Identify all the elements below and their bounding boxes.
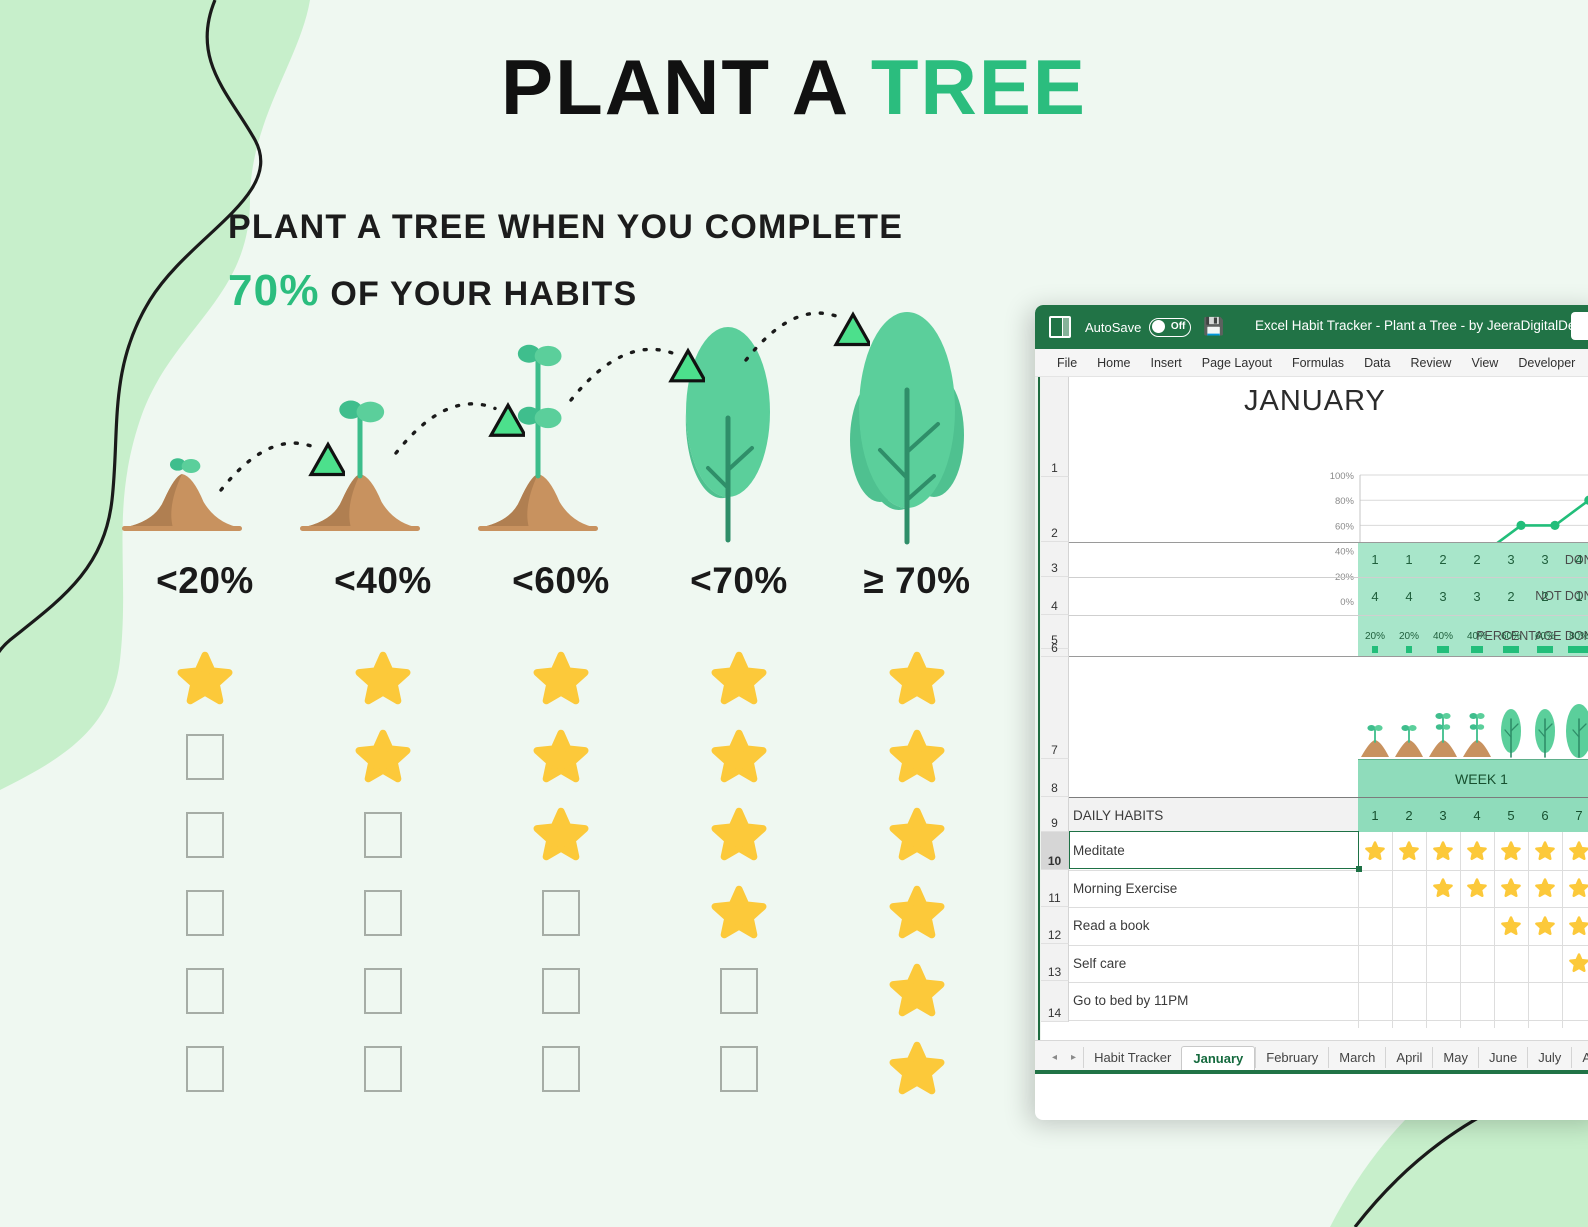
empty-box-icon: [720, 968, 758, 1014]
empty-box-icon: [186, 812, 224, 858]
habit-star-cell[interactable]: [1562, 907, 1588, 945]
star-icon: [1535, 916, 1555, 936]
star-filled: [832, 718, 1002, 796]
empty-box-icon: [186, 968, 224, 1014]
ribbon-tab-formulas[interactable]: Formulas: [1282, 356, 1354, 370]
autosave-toggle-knob: [1152, 320, 1165, 333]
empty-box-icon: [186, 890, 224, 936]
ribbon-tab-view[interactable]: View: [1461, 356, 1508, 370]
day-header-5[interactable]: 5: [1494, 798, 1528, 832]
data-bar: [1437, 646, 1448, 653]
habit-name[interactable]: Go to bed by 11PM: [1069, 982, 1358, 1020]
star-filled: [654, 640, 824, 718]
star-filled: [832, 874, 1002, 952]
stat-cell[interactable]: 3: [1494, 542, 1528, 577]
star-icon: [1433, 878, 1453, 898]
checkbox-empty: [476, 952, 646, 1030]
sheet-content: JANUARY 0%20%40%60%80%100% DONE1122334NO…: [1069, 377, 1588, 1074]
grid-vline: [1494, 832, 1495, 1028]
sheet-tab-augus[interactable]: Augus: [1571, 1047, 1588, 1068]
growth-stage-label-3: <60%: [476, 560, 646, 602]
row-header-9[interactable]: 9: [1041, 797, 1069, 832]
star-icon: [177, 651, 233, 707]
habit-star-cell[interactable]: [1426, 870, 1460, 908]
svg-text:80%: 80%: [1335, 496, 1355, 507]
stat-cell[interactable]: 2: [1528, 577, 1562, 615]
star-icon: [1501, 878, 1521, 898]
empty-box-icon: [542, 1046, 580, 1092]
row-header-6[interactable]: 6: [1041, 649, 1069, 657]
star-filled: [654, 718, 824, 796]
sheet-nav-prev[interactable]: ◂: [1045, 1052, 1064, 1063]
checkbox-empty: [298, 796, 468, 874]
mini-sprout-1: [1361, 725, 1389, 757]
stat-cell[interactable]: 3: [1460, 577, 1494, 615]
star-icon: [1569, 841, 1588, 861]
checkbox-empty: [120, 718, 290, 796]
data-bar: [1372, 646, 1378, 653]
sheet-tab-april[interactable]: April: [1385, 1047, 1432, 1068]
star-filled: [832, 796, 1002, 874]
empty-box-icon: [364, 812, 402, 858]
habit-star-cell[interactable]: [1460, 832, 1494, 870]
growth-arrow-4: [740, 295, 870, 370]
checkbox-empty: [476, 874, 646, 952]
ribbon-tab-insert[interactable]: Insert: [1141, 356, 1192, 370]
star-icon: [1467, 878, 1487, 898]
mini-tree-2: [1566, 704, 1588, 758]
habit-name[interactable]: Morning Exercise: [1069, 870, 1358, 908]
save-icon[interactable]: 💾: [1203, 317, 1224, 337]
sheet-nav-next[interactable]: ▸: [1064, 1052, 1083, 1063]
window-controls[interactable]: [1571, 312, 1588, 340]
star-filled: [476, 640, 646, 718]
checkbox-empty: [298, 1030, 468, 1108]
habit-star-cell[interactable]: [1528, 870, 1562, 908]
habit-star-cell[interactable]: [1528, 832, 1562, 870]
sheet-tab-habit-tracker[interactable]: Habit Tracker: [1083, 1047, 1181, 1068]
empty-box-icon: [364, 1046, 402, 1092]
star-filled: [832, 952, 1002, 1030]
sheet-tab-june[interactable]: June: [1478, 1047, 1527, 1068]
stat-cell[interactable]: 4: [1392, 577, 1426, 615]
star-icon: [889, 651, 945, 707]
star-icon: [1535, 841, 1555, 861]
star-icon: [355, 729, 411, 785]
day-header-6[interactable]: 6: [1528, 798, 1562, 832]
poster-canvas: PLANT A TREE PLANT A TREE WHEN YOU COMPL…: [0, 0, 1588, 1227]
star-icon: [1365, 841, 1385, 861]
mini-sprout-1: [1395, 725, 1423, 757]
habit-star-cell[interactable]: [1460, 870, 1494, 908]
day-header-7[interactable]: 7: [1562, 798, 1588, 832]
empty-box-icon: [364, 890, 402, 936]
subtitle-line-1: PLANT A TREE WHEN YOU COMPLETE: [228, 200, 1088, 255]
mini-sprout-2: [1463, 713, 1491, 757]
excel-window: AutoSave Off 💾 Excel Habit Tracker - Pla…: [1035, 305, 1588, 1120]
row-header-1[interactable]: 1: [1041, 377, 1069, 477]
stat-cell[interactable]: 4: [1562, 542, 1588, 577]
star-filled: [120, 640, 290, 718]
empty-box-icon: [364, 968, 402, 1014]
growth-stage-label-1: <20%: [120, 560, 290, 602]
habit-star-cell[interactable]: [1494, 870, 1528, 908]
sheet-tab-may[interactable]: May: [1432, 1047, 1478, 1068]
daily-habits-header: DAILY HABITS: [1069, 797, 1358, 832]
growth-stage-label-4: <70%: [654, 560, 824, 602]
mini-sprout-2: [1429, 713, 1457, 757]
star-icon: [355, 651, 411, 707]
star-filled: [298, 718, 468, 796]
star-icon: [889, 885, 945, 941]
stat-cell[interactable]: 3: [1528, 542, 1562, 577]
autosave-label: AutoSave: [1085, 320, 1141, 335]
row-header-7[interactable]: 7: [1041, 657, 1069, 759]
star-icon: [1433, 841, 1453, 861]
stat-cell[interactable]: 2: [1426, 542, 1460, 577]
data-bar: [1537, 646, 1554, 653]
stat-cell[interactable]: 1: [1562, 577, 1588, 615]
ribbon-tab-data[interactable]: Data: [1354, 356, 1400, 370]
data-bar: [1568, 646, 1588, 653]
habit-row-divider: [1069, 1020, 1588, 1021]
star-filled: [654, 874, 824, 952]
row-header-10[interactable]: 10: [1041, 832, 1069, 870]
day-header-2[interactable]: 2: [1392, 798, 1426, 832]
row-header-4[interactable]: 4: [1041, 577, 1069, 615]
star-icon: [711, 885, 767, 941]
checkbox-empty: [120, 952, 290, 1030]
svg-text:60%: 60%: [1335, 521, 1355, 532]
star-icon: [533, 729, 589, 785]
stat-cell[interactable]: 1: [1392, 542, 1426, 577]
mini-plant-progression: [1358, 697, 1588, 759]
data-bar: [1503, 646, 1520, 653]
ribbon-tab-home[interactable]: Home: [1087, 356, 1140, 370]
row-header-8[interactable]: 8: [1041, 759, 1069, 797]
empty-box-icon: [542, 890, 580, 936]
habit-star-cell[interactable]: [1358, 832, 1392, 870]
habit-star-cell[interactable]: [1562, 832, 1588, 870]
day-header-3[interactable]: 3: [1426, 798, 1460, 832]
sheet-tab-march[interactable]: March: [1328, 1047, 1385, 1068]
window-bottom-edge: [1035, 1070, 1588, 1074]
ribbon-tab-page-layout[interactable]: Page Layout: [1192, 356, 1282, 370]
habit-star-cell[interactable]: [1528, 907, 1562, 945]
mini-tree-1: [1535, 709, 1555, 757]
star-icon: [1501, 916, 1521, 936]
checkbox-empty: [120, 874, 290, 952]
stat-cell[interactable]: 4: [1358, 577, 1392, 615]
sheet-tab-july[interactable]: July: [1527, 1047, 1571, 1068]
star-icon: [711, 651, 767, 707]
autosave-toggle[interactable]: Off: [1149, 318, 1191, 337]
star-icon: [1467, 841, 1487, 861]
grid-vline: [1562, 832, 1563, 1028]
star-icon: [533, 651, 589, 707]
grid-vline: [1528, 832, 1529, 1028]
star-icon: [1569, 953, 1588, 973]
star-filled: [832, 640, 1002, 718]
stat-cell[interactable]: 2: [1460, 542, 1494, 577]
row-header-3[interactable]: 3: [1041, 542, 1069, 577]
checkbox-empty: [298, 952, 468, 1030]
habit-name[interactable]: Self care: [1069, 945, 1358, 983]
star-icon: [889, 807, 945, 863]
sheet-tab-january[interactable]: January: [1181, 1046, 1255, 1070]
excel-icon: [1049, 316, 1071, 338]
star-icon: [1501, 841, 1521, 861]
empty-box-icon: [542, 968, 580, 1014]
growth-arrow-3: [565, 330, 705, 410]
star-filled: [476, 718, 646, 796]
row-header-13[interactable]: 13: [1041, 944, 1069, 981]
grid-vline: [1392, 832, 1393, 1028]
ribbon-tab-developer[interactable]: Developer: [1508, 356, 1585, 370]
star-icon: [1569, 916, 1588, 936]
worksheet-area: 1234567891011121314 JANUARY 0%20%40%60%8…: [1035, 377, 1588, 1074]
habit-star-cell[interactable]: [1562, 945, 1588, 983]
ribbon-tabs: FileHomeInsertPage LayoutFormulasDataRev…: [1035, 349, 1588, 377]
star-filled: [832, 1030, 1002, 1108]
grid-vline: [1460, 832, 1461, 1028]
day-header-1[interactable]: 1: [1358, 798, 1392, 832]
chart-point-5: [1516, 521, 1525, 530]
stat-cell[interactable]: 3: [1426, 577, 1460, 615]
stats-table: DONE1122334NOT DONE4433221PERCENTAGE DON…: [1069, 542, 1588, 657]
star-icon: [1399, 841, 1419, 861]
growth-arrow-1: [215, 425, 345, 500]
mini-tree-1: [1501, 709, 1521, 757]
row-header-11[interactable]: 11: [1041, 870, 1069, 907]
habit-star-cell[interactable]: [1426, 832, 1460, 870]
sheet-month-title: JANUARY: [1244, 385, 1386, 418]
checkbox-empty: [298, 874, 468, 952]
habit-star-cell[interactable]: [1392, 832, 1426, 870]
row-header-12[interactable]: 12: [1041, 907, 1069, 944]
selected-cell[interactable]: [1069, 831, 1359, 869]
growth-stage-labels: <20%<40%<60%<70%≥ 70%: [120, 560, 1000, 620]
star-rating-grid: [120, 640, 1000, 1100]
page-title: PLANT A TREE: [0, 48, 1588, 126]
empty-box-icon: [186, 734, 224, 780]
growth-stage-label-5: ≥ 70%: [832, 560, 1002, 602]
autosave-state: Off: [1171, 321, 1185, 332]
star-icon: [889, 729, 945, 785]
checkbox-empty: [476, 1030, 646, 1108]
checkbox-empty: [654, 952, 824, 1030]
checkbox-empty: [120, 796, 290, 874]
day-header-4[interactable]: 4: [1460, 798, 1494, 832]
star-icon: [889, 1041, 945, 1097]
checkbox-empty: [654, 1030, 824, 1108]
star-icon: [1535, 878, 1555, 898]
star-filled: [298, 640, 468, 718]
habit-star-cell[interactable]: [1562, 870, 1588, 908]
week-header: WEEK 1: [1358, 759, 1588, 797]
star-icon: [533, 807, 589, 863]
document-title-text: Excel Habit Tracker - Plant a Tree - by …: [1255, 318, 1588, 333]
sheet-tabs-bar: ◂▸Habit TrackerJanuaryFebruaryMarchApril…: [1035, 1040, 1588, 1074]
habit-star-cell[interactable]: [1494, 832, 1528, 870]
svg-text:100%: 100%: [1330, 471, 1355, 482]
data-bar: [1406, 646, 1412, 653]
habit-name[interactable]: Read a book: [1069, 907, 1358, 945]
ribbon-tab-file[interactable]: File: [1047, 356, 1087, 370]
page-title-plain: PLANT A: [501, 43, 871, 131]
growth-arrow-2: [390, 385, 525, 463]
excel-title-bar: AutoSave Off 💾 Excel Habit Tracker - Pla…: [1035, 305, 1588, 349]
day-number-header: 1234567: [1358, 797, 1588, 832]
star-icon: [1569, 878, 1588, 898]
row-header-14[interactable]: 14: [1041, 981, 1069, 1022]
empty-box-icon: [186, 1046, 224, 1092]
star-filled: [476, 796, 646, 874]
habit-star-cell[interactable]: [1494, 907, 1528, 945]
checkbox-empty: [120, 1030, 290, 1108]
empty-box-icon: [720, 1046, 758, 1092]
star-icon: [889, 963, 945, 1019]
page-title-accent: TREE: [871, 43, 1087, 131]
chart-point-6: [1550, 521, 1559, 530]
row-header-2[interactable]: 2: [1041, 477, 1069, 542]
stat-cell[interactable]: 2: [1494, 577, 1528, 615]
star-filled: [654, 796, 824, 874]
star-icon: [711, 807, 767, 863]
stat-cell[interactable]: 1: [1358, 542, 1392, 577]
grid-vline: [1426, 832, 1427, 1028]
sheet-tab-february[interactable]: February: [1255, 1047, 1328, 1068]
star-icon: [711, 729, 767, 785]
document-title: Excel Habit Tracker - Plant a Tree - by …: [1255, 318, 1588, 333]
ribbon-tab-review[interactable]: Review: [1400, 356, 1461, 370]
data-bar: [1471, 646, 1482, 653]
growth-stage-label-2: <40%: [298, 560, 468, 602]
